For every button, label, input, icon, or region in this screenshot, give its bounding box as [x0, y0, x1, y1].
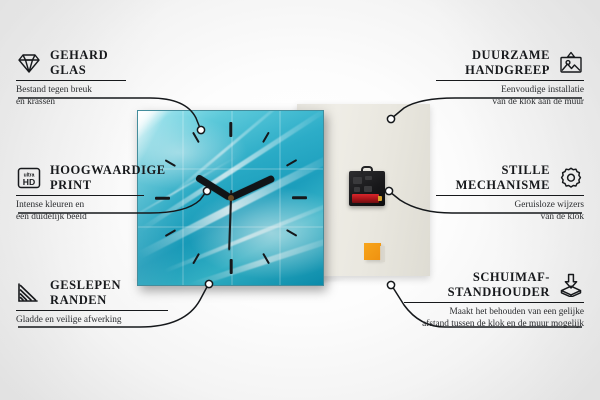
feature-title-line1: SCHUIMAF-: [448, 270, 550, 285]
gear-icon: [558, 166, 584, 190]
beveled-edge-icon: [16, 281, 42, 305]
feature-desc-line2: een duidelijk beeld: [16, 212, 194, 224]
feature-desc-line1: Intense kleuren en: [16, 200, 194, 212]
feature-gehard-glas[interactable]: GEHARD GLAS Bestand tegen breuk en krass…: [16, 48, 194, 108]
connector-dot-gehard: [197, 126, 204, 133]
feature-divider: [404, 302, 584, 303]
feature-schuimafstandhouder[interactable]: SCHUIMAF- STANDHOUDER Maakt het behouden…: [398, 270, 584, 330]
feature-title-line2: HANDGREEP: [465, 63, 550, 78]
feature-desc-line2: afstand tussen de klok en de muur mogeli…: [398, 319, 584, 331]
feature-desc-line1: Gladde en veilige afwerking: [16, 315, 194, 327]
feature-duurzame-handgreep[interactable]: DUURZAME HANDGREEP Eenvoudige installati…: [406, 48, 584, 108]
feature-desc-line1: Geruisloze wijzers: [406, 200, 584, 212]
feature-title-line1: HOOGWAARDIGE: [50, 163, 166, 178]
feature-title-line2: STANDHOUDER: [448, 285, 550, 300]
feature-stille-mechanisme[interactable]: STILLE MECHANISME Geruisloze wijzers van…: [406, 163, 584, 223]
feature-divider: [436, 195, 584, 196]
feature-title-line2: MECHANISME: [456, 178, 550, 193]
connector-dot-handgreep: [387, 115, 394, 122]
feature-desc-line2: en krassen: [16, 97, 194, 109]
connector-dot-stille: [385, 187, 392, 194]
svg-text:HD: HD: [23, 176, 35, 186]
connector-dot-print: [203, 187, 210, 194]
feature-title-line1: DUURZAME: [465, 48, 550, 63]
connector-dot-randen: [205, 280, 212, 287]
feature-title-line2: GLAS: [50, 63, 108, 78]
feature-desc-line2: van de klok: [406, 212, 584, 224]
feature-title-line1: GESLEPEN: [50, 278, 121, 293]
feature-title-line2: RANDEN: [50, 293, 121, 308]
ultra-hd-icon: ultra HD: [16, 166, 42, 190]
press-pad-icon: [558, 273, 584, 297]
diamond-icon: [16, 51, 42, 75]
feature-desc-line2: van de klok aan de muur: [406, 97, 584, 109]
feature-title-line1: STILLE: [456, 163, 550, 178]
feature-desc-line1: Maakt het behouden van een gelijke: [398, 307, 584, 319]
hanging-picture-icon: [558, 51, 584, 75]
feature-hoogwaardige-print[interactable]: ultra HD HOOGWAARDIGE PRINT Intense kleu…: [16, 163, 194, 223]
feature-divider: [16, 310, 168, 311]
feature-geslepen-randen[interactable]: GESLEPEN RANDEN Gladde en veilige afwerk…: [16, 278, 194, 327]
feature-desc-line1: Bestand tegen breuk: [16, 85, 194, 97]
feature-divider: [16, 80, 126, 81]
feature-divider: [16, 195, 144, 196]
feature-title-line1: GEHARD: [50, 48, 108, 63]
feature-divider: [436, 80, 584, 81]
feature-title-line2: PRINT: [50, 178, 166, 193]
feature-desc-line1: Eenvoudige installatie: [406, 85, 584, 97]
infographic-canvas: GEHARD GLAS Bestand tegen breuk en krass…: [0, 0, 600, 400]
connector-dot-schuim: [387, 281, 394, 288]
